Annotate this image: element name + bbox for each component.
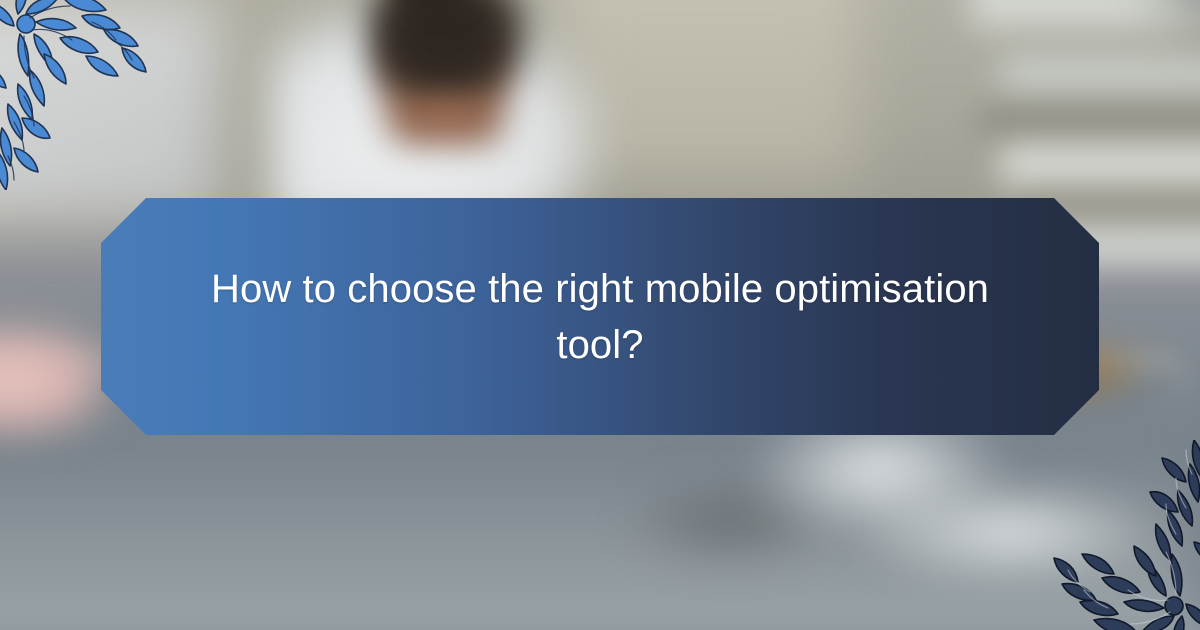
background-shadow-top-right [1140,0,1200,50]
background-desk-object-light [870,485,1150,580]
page-title: How to choose the right mobile optimisat… [210,261,990,373]
background-whiteboard [0,0,220,220]
background-wall-panel-center [560,0,860,180]
background-person-arm [0,325,110,435]
background-person-hair [365,0,530,95]
title-banner: How to choose the right mobile optimisat… [101,198,1099,435]
page-canvas: How to choose the right mobile optimisat… [0,0,1200,630]
background-shelf [1000,145,1200,185]
background-shelf [980,108,1200,134]
background-shelf [1000,52,1200,96]
background-person-hair-bun [392,0,470,12]
